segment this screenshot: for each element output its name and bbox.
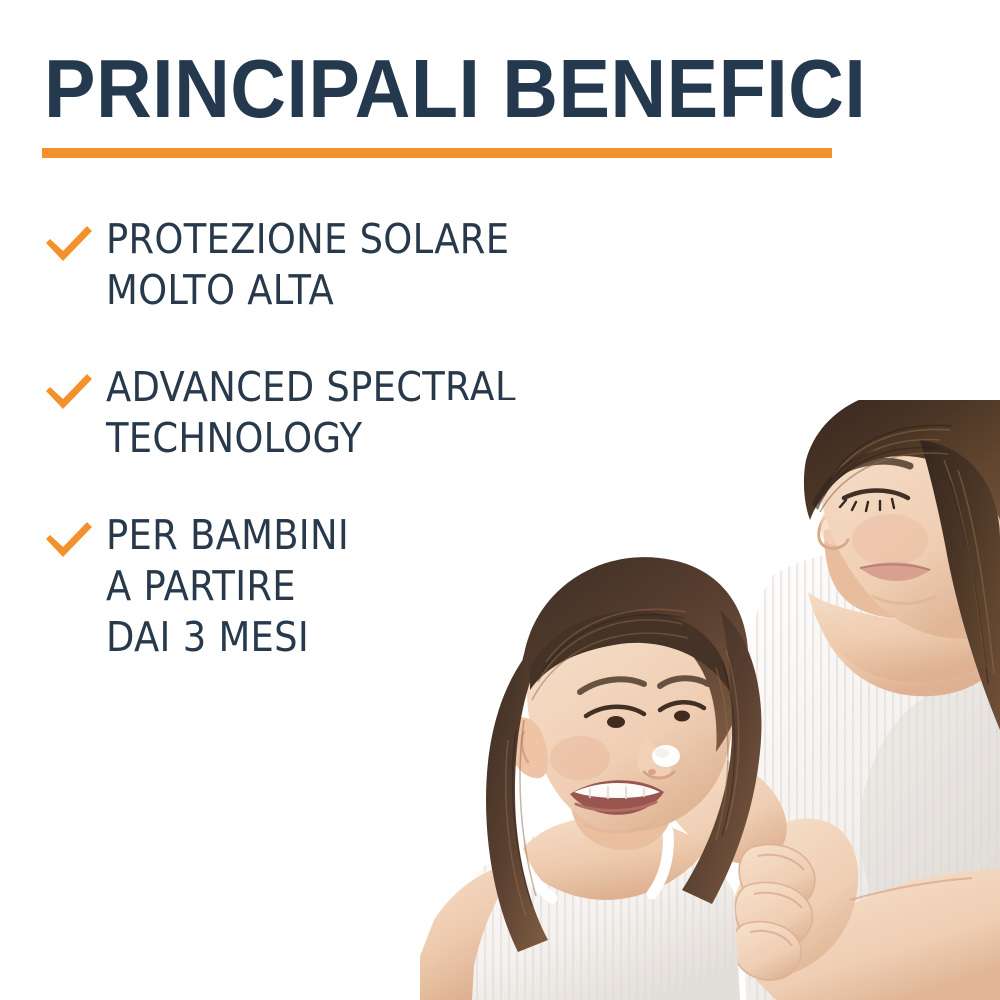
title-underline-rule — [42, 148, 832, 158]
page-title: PRINCIPALI BENEFICI — [44, 44, 788, 134]
benefit-label: PROTEZIONE SOLARE MOLTO ALTA — [106, 214, 509, 316]
list-item: PROTEZIONE SOLARE MOLTO ALTA — [44, 214, 704, 316]
lifestyle-photo — [420, 400, 1000, 1000]
orange-checkmark-icon — [44, 362, 106, 412]
benefit-label: PER BAMBINI A PARTIRE DAI 3 MESI — [106, 510, 349, 663]
orange-checkmark-icon — [44, 510, 106, 560]
benefits-panel: PRINCIPALI BENEFICI PROTEZIONE SOLARE MO… — [0, 0, 1000, 1000]
orange-checkmark-icon — [44, 214, 106, 264]
header: PRINCIPALI BENEFICI — [44, 44, 844, 134]
